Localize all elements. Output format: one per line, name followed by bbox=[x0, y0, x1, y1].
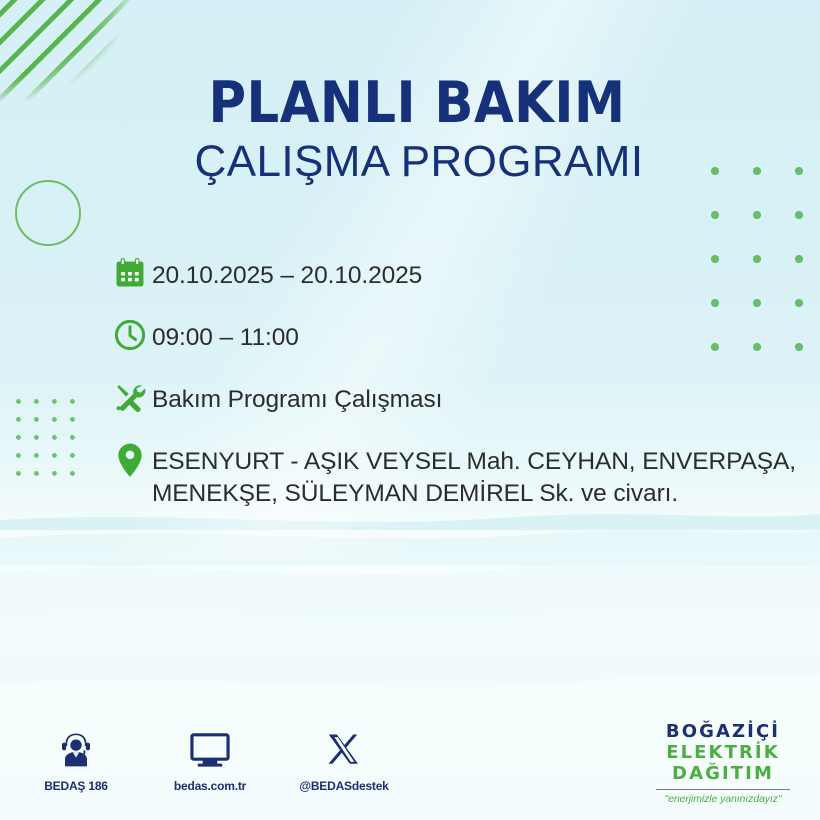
brand-tagline: "enerjimizle yanınızdayız" bbox=[648, 793, 798, 805]
contact-phone[interactable]: BEDAŞ 186 bbox=[30, 728, 122, 793]
dot-grid-left-decoration bbox=[16, 399, 76, 477]
contact-website-label: bedas.com.tr bbox=[164, 779, 256, 793]
brand-line-elektrik: ELEKTRİK bbox=[648, 743, 798, 764]
contact-phone-label: BEDAŞ 186 bbox=[30, 779, 122, 793]
page-subtitle: ÇALIŞMA PROGRAMI bbox=[0, 138, 820, 186]
clock-icon bbox=[108, 318, 152, 360]
detail-row-date: 20.10.2025 – 20.10.2025 bbox=[108, 256, 808, 298]
footer-contact-links: BEDAŞ 186 bedas.com.tr @BEDASdestek bbox=[30, 728, 390, 793]
contact-x-label: @BEDASdestek bbox=[298, 779, 390, 793]
calendar-icon bbox=[108, 256, 152, 298]
detail-row-work-type: Bakım Programı Çalışması bbox=[108, 380, 808, 422]
location-pin-icon bbox=[108, 442, 152, 484]
contact-website[interactable]: bedas.com.tr bbox=[164, 728, 256, 793]
detail-location-text: ESENYURT - AŞIK VEYSEL Mah. CEYHAN, ENVE… bbox=[152, 442, 808, 511]
detail-date-text: 20.10.2025 – 20.10.2025 bbox=[152, 256, 422, 292]
detail-work-text: Bakım Programı Çalışması bbox=[152, 380, 442, 416]
brand-divider bbox=[656, 789, 790, 790]
bedas-logo: BOĞAZİÇİ ELEKTRİK DAĞITIM "enerjimizle y… bbox=[648, 722, 798, 805]
detail-row-time: 09:00 – 11:00 bbox=[108, 318, 808, 360]
contact-x-twitter[interactable]: @BEDASdestek bbox=[298, 728, 390, 793]
circle-outline-decoration bbox=[15, 180, 81, 246]
support-agent-icon bbox=[30, 728, 122, 772]
brand-line-dagitim: DAĞITIM bbox=[648, 764, 798, 785]
tools-icon bbox=[108, 380, 152, 422]
detail-row-location: ESENYURT - AŞIK VEYSEL Mah. CEYHAN, ENVE… bbox=[108, 442, 808, 511]
notice-details: 20.10.2025 – 20.10.2025 09:00 – 11:00 bbox=[108, 256, 808, 511]
brand-line-bogazici: BOĞAZİÇİ bbox=[648, 722, 798, 743]
detail-time-text: 09:00 – 11:00 bbox=[152, 318, 299, 354]
monitor-icon bbox=[164, 728, 256, 772]
poster-heading: PLANLI BAKIM ÇALIŞMA PROGRAMI bbox=[0, 74, 820, 186]
maintenance-notice-poster: PLANLI BAKIM ÇALIŞMA PROGRAMI bbox=[0, 0, 820, 820]
page-title: PLANLI BAKIM bbox=[0, 74, 820, 132]
x-twitter-icon bbox=[298, 728, 390, 772]
